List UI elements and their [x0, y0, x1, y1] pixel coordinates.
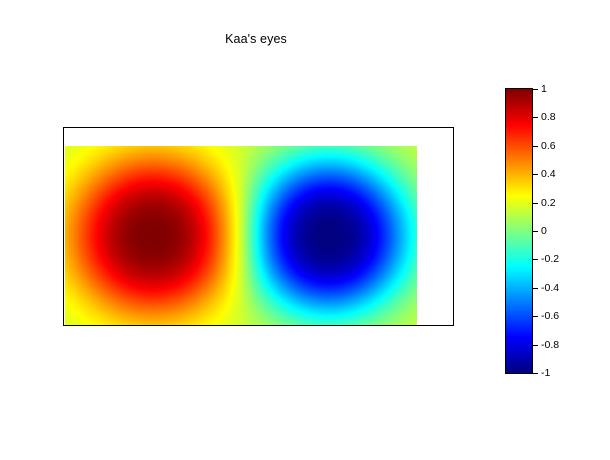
colorbar-tick-mark	[533, 89, 538, 90]
colorbar-tick-mark	[533, 146, 538, 147]
colorbar-tick-label: 0	[541, 226, 547, 237]
colorbar-tick-label: 0.2	[541, 197, 556, 208]
colorbar-tick-mark	[533, 373, 538, 374]
figure-canvas: Kaa's eyes 10.80.60.40.20-0.2-0.4-0.6-0.…	[0, 0, 610, 460]
colorbar-tick-mark	[533, 316, 538, 317]
colorbar-tick-mark	[533, 203, 538, 204]
colorbar-tick-label: 0.8	[541, 112, 556, 123]
heatmap-image[interactable]	[65, 146, 417, 326]
colorbar-tick-mark	[533, 345, 538, 346]
colorbar-tick-label: -0.8	[541, 339, 559, 350]
colorbar-tick-mark	[533, 259, 538, 260]
colorbar-tick-mark	[533, 174, 538, 175]
colorbar-tick-mark	[533, 288, 538, 289]
colorbar-tick-mark	[533, 231, 538, 232]
colorbar-tick-label: 0.6	[541, 141, 556, 152]
colorbar-tick-label: -0.2	[541, 254, 559, 265]
colorbar-canvas	[506, 89, 532, 373]
main-axes[interactable]	[63, 127, 454, 326]
colorbar-tick-label: 1	[541, 84, 547, 95]
colorbar-tick-label: -0.6	[541, 311, 559, 322]
colorbar[interactable]	[505, 88, 533, 374]
colorbar-tick-mark	[533, 117, 538, 118]
colorbar-gradient	[506, 89, 532, 373]
colorbar-tick-label: -1	[541, 368, 550, 379]
page-title: Kaa's eyes	[0, 32, 512, 46]
colorbar-tick-label: -0.4	[541, 283, 559, 294]
heatmap-canvas	[65, 146, 417, 326]
colorbar-tick-label: 0.4	[541, 169, 556, 180]
